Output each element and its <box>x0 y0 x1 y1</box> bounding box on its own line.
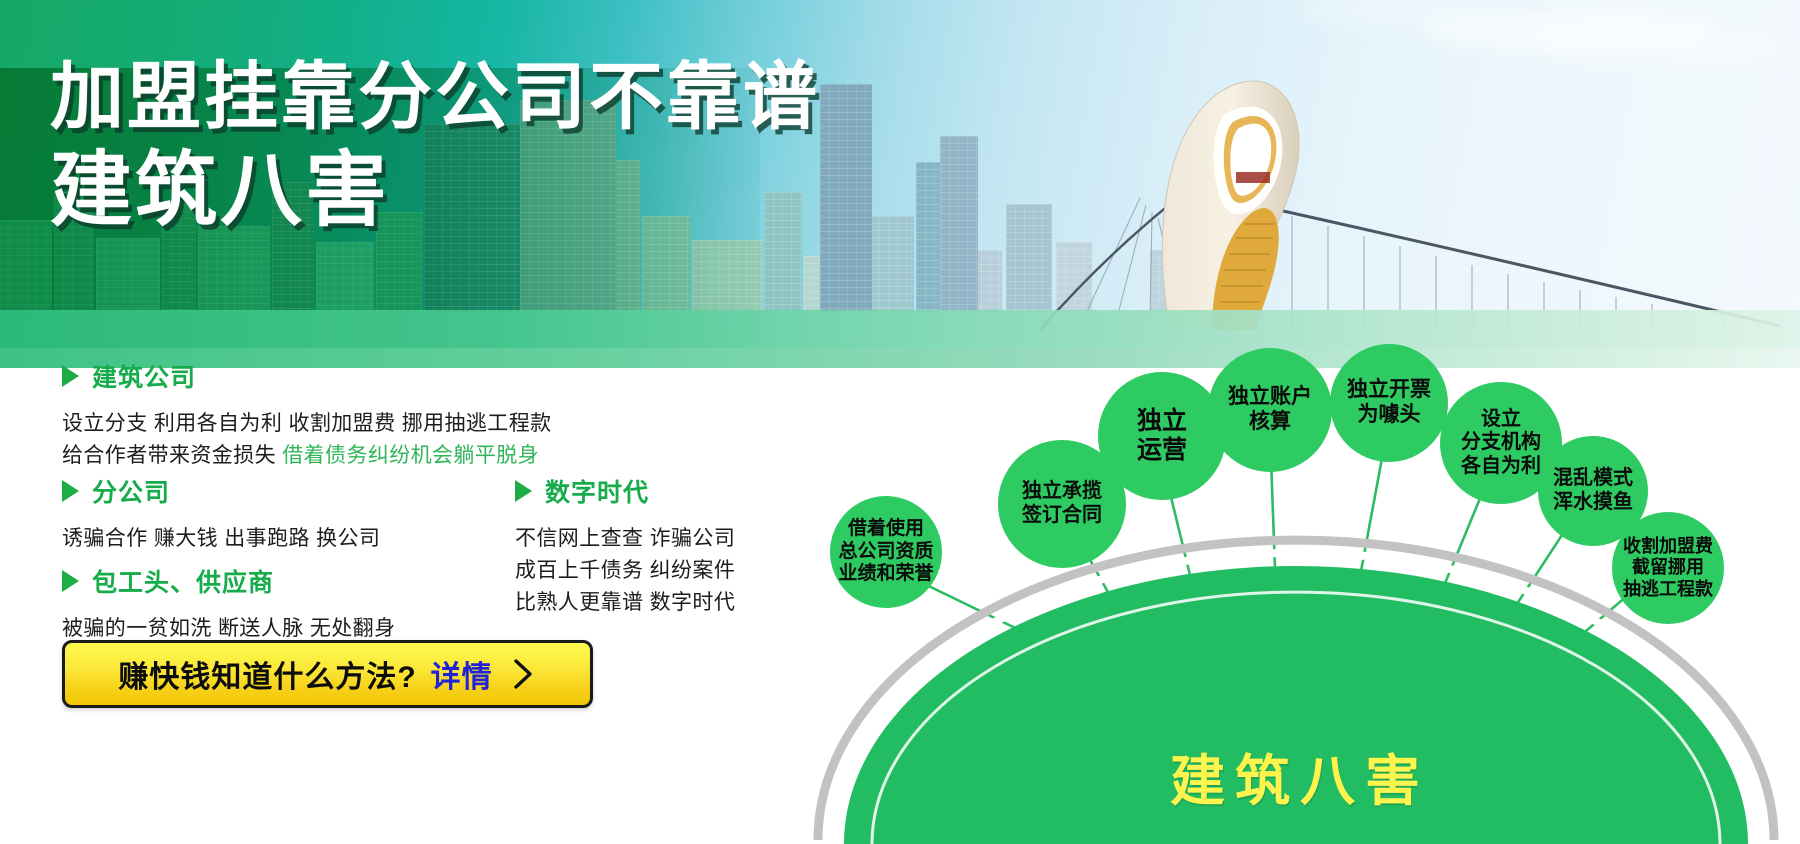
section-line: 比熟人更靠谱 数字时代 <box>515 587 735 619</box>
bubble-text: 收割加盟费 截留挪用 抽逃工程款 <box>1623 536 1713 600</box>
section-line: 诱骗合作 赚大钱 出事跑路 换公司 <box>62 523 380 555</box>
section-header: 建筑公司 <box>62 358 552 394</box>
section-line-highlight: 借着债务纠纷机会躺平脱身 <box>282 444 539 467</box>
section-line-text: 比熟人更靠谱 数字时代 <box>515 591 735 614</box>
bubble-text: 独立开票 为噱头 <box>1347 378 1431 428</box>
bubble-text: 设立 分支机构 各自为利 <box>1461 408 1541 479</box>
triangle-bullet-icon <box>62 570 79 592</box>
bubble-harvest-franchise-fee[interactable]: 收割加盟费 截留挪用 抽逃工程款 <box>1612 512 1724 624</box>
hero-title: 加盟挂靠分公司不靠谱 建筑八害 <box>50 58 820 234</box>
cta-details-link[interactable]: 详情 <box>431 652 493 696</box>
section-branch-company: 分公司 诱骗合作 赚大钱 出事跑路 换公司 <box>62 473 380 555</box>
chevron-right-icon <box>511 657 537 691</box>
cta-question-label: 赚快钱知道什么方法? <box>118 652 416 696</box>
bubble-text: 借着使用 总公司资质 业绩和荣誉 <box>838 518 933 585</box>
section-line: 成百上千债务 纠纷案件 <box>515 555 735 587</box>
section-line: 给合作者带来资金损失 借着债务纠纷机会躺平脱身 <box>62 440 552 472</box>
bridge-illustration <box>1020 30 1780 330</box>
dome-diagram: 建筑八害 借着使用 总公司资质 业绩和荣誉 独立承揽 签订合同 独立 运营 独立… <box>800 340 1800 844</box>
bubble-text: 独立 运营 <box>1137 407 1187 466</box>
left-content: 建筑公司 设立分支 利用各自为利 收割加盟费 挪用抽逃工程款 给合作者带来资金损… <box>0 368 800 844</box>
section-title: 包工头、供应商 <box>92 563 274 599</box>
bubble-text: 混乱模式 浑水摸鱼 <box>1553 467 1633 514</box>
section-title: 数字时代 <box>545 473 649 509</box>
section-line: 不信网上查查 诈骗公司 <box>515 523 735 555</box>
section-contractor-supplier: 包工头、供应商 被骗的一贫如洗 断送人脉 无处翻身 <box>62 563 395 645</box>
section-header: 数字时代 <box>515 473 735 509</box>
section-header: 分公司 <box>62 473 380 509</box>
bubble-use-parent-qualification[interactable]: 借着使用 总公司资质 业绩和荣誉 <box>830 496 942 608</box>
section-line-text: 被骗的一贫如洗 断送人脉 无处翻身 <box>62 617 395 640</box>
bubble-text: 独立账户 核算 <box>1228 385 1312 435</box>
hero-banner: 加盟挂靠分公司不靠谱 建筑八害 <box>0 0 1800 368</box>
bubble-text: 独立承揽 签订合同 <box>1022 480 1102 527</box>
section-construction-company: 建筑公司 设立分支 利用各自为利 收割加盟费 挪用抽逃工程款 给合作者带来资金损… <box>62 358 552 472</box>
bubble-independent-account[interactable]: 独立账户 核算 <box>1208 348 1332 472</box>
cta-button[interactable]: 赚快钱知道什么方法? 详情 <box>62 640 593 708</box>
hero-title-line2: 建筑八害 <box>50 148 820 234</box>
triangle-bullet-icon <box>62 480 79 502</box>
section-line-text: 成百上千债务 纠纷案件 <box>515 559 735 582</box>
triangle-bullet-icon <box>515 480 532 502</box>
section-title: 分公司 <box>92 473 170 509</box>
dome-center-label: 建筑八害 <box>800 736 1800 816</box>
section-header: 包工头、供应商 <box>62 563 395 599</box>
bubble-independent-invoicing[interactable]: 独立开票 为噱头 <box>1330 344 1448 462</box>
section-line-text: 给合作者带来资金损失 <box>62 444 282 467</box>
section-title: 建筑公司 <box>92 358 196 394</box>
bubble-independent-operation[interactable]: 独立 运营 <box>1098 372 1226 500</box>
section-digital-era: 数字时代 不信网上查查 诈骗公司 成百上千债务 纠纷案件 比熟人更靠谱 数字时代 <box>515 473 735 619</box>
section-line-text: 设立分支 利用各自为利 收割加盟费 挪用抽逃工程款 <box>62 412 552 435</box>
hero-title-line1: 加盟挂靠分公司不靠谱 <box>50 58 820 136</box>
poster-root: 加盟挂靠分公司不靠谱 建筑八害 建筑公司 设立分支 利用各自为利 收割加盟费 挪… <box>0 0 1800 844</box>
section-line: 设立分支 利用各自为利 收割加盟费 挪用抽逃工程款 <box>62 408 552 440</box>
triangle-bullet-icon <box>62 365 79 387</box>
section-line-text: 不信网上查查 诈骗公司 <box>515 527 735 550</box>
section-line-text: 诱骗合作 赚大钱 出事跑路 换公司 <box>62 527 380 550</box>
